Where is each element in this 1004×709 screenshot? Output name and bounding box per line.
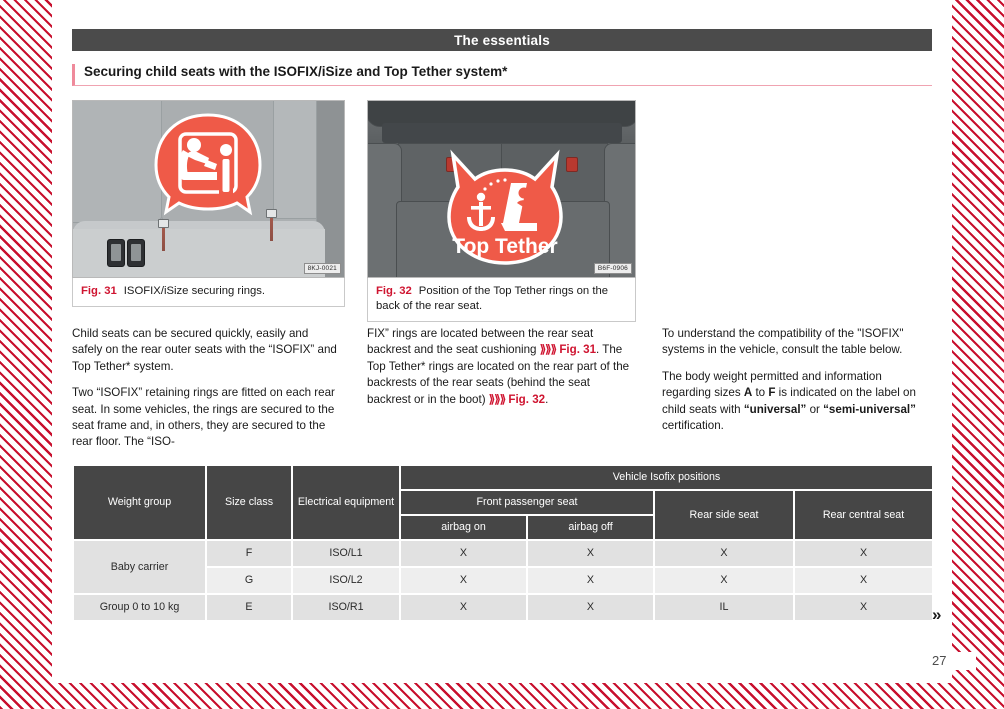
chevron-right-icon: ⟫⟫⟫ xyxy=(489,393,505,406)
page-sheet-footer xyxy=(52,650,952,683)
figure-32: Top Tether B6F-0906 Fig. 32Position of t… xyxy=(367,100,636,322)
cell-rear-central: X xyxy=(794,540,933,567)
cell-size-class: F xyxy=(206,540,292,567)
text-run: . xyxy=(545,393,548,406)
cell-airbag-on: X xyxy=(400,540,527,567)
cell-equipment: ISO/L2 xyxy=(292,567,400,594)
th-front-passenger-seat: Front passenger seat xyxy=(400,490,654,515)
cell-equipment: ISO/R1 xyxy=(292,594,400,621)
continuation-marker: » xyxy=(932,605,939,625)
th-weight-group: Weight group xyxy=(73,465,206,540)
text-run: to xyxy=(752,386,768,399)
size-a: A xyxy=(744,386,752,399)
figure-31: 8KJ-0021 Fig. 31ISOFIX/iSize securing ri… xyxy=(72,100,345,307)
page-number: 27 xyxy=(930,652,976,670)
figure-31-image: 8KJ-0021 xyxy=(72,100,345,278)
body-column-2: FIX” rings are located between the rear … xyxy=(367,326,635,408)
table-row: Baby carrier F ISO/L1 X X X X xyxy=(73,540,933,567)
cell-airbag-on: X xyxy=(400,594,527,621)
section-heading-container: Securing child seats with the ISOFIX/iSi… xyxy=(72,64,932,86)
cell-rear-side: X xyxy=(654,540,794,567)
paragraph: Two “ISOFIX” retaining rings are fitted … xyxy=(72,385,340,451)
body-column-1: Child seats can be secured quickly, easi… xyxy=(72,326,340,451)
th-electrical-equipment: Electrical equipment xyxy=(292,465,400,540)
figure-32-label: Fig. 32 xyxy=(376,285,412,297)
figure-31-caption-text: ISOFIX/iSize securing rings. xyxy=(124,285,265,297)
figure-32-code: B6F-0906 xyxy=(594,263,632,274)
figure-31-crossref[interactable]: Fig. 31 xyxy=(559,343,596,356)
cell-weight-group: Group 0 to 10 kg xyxy=(73,594,206,621)
paragraph: FIX” rings are located between the rear … xyxy=(367,326,635,408)
top-tether-badge-icon: Top Tether xyxy=(441,149,569,269)
cell-rear-central: X xyxy=(794,594,933,621)
isofix-compatibility-table: Weight group Size class Electrical equip… xyxy=(72,464,934,622)
chapter-title: The essentials xyxy=(454,33,550,48)
cell-size-class: G xyxy=(206,567,292,594)
th-rear-central-seat: Rear central seat xyxy=(794,490,933,540)
text-run: certification. xyxy=(662,419,724,432)
isofix-badge-icon xyxy=(147,112,269,224)
semi-universal-label: “semi-universal” xyxy=(823,403,916,416)
figure-32-caption: Fig. 32Position of the Top Tether rings … xyxy=(367,278,636,322)
th-airbag-off: airbag off xyxy=(527,515,654,540)
th-airbag-on: airbag on xyxy=(400,515,527,540)
th-size-class: Size class xyxy=(206,465,292,540)
figure-32-crossref[interactable]: Fig. 32 xyxy=(508,393,545,406)
cell-airbag-off: X xyxy=(527,540,654,567)
text-run: or xyxy=(806,403,823,416)
cell-rear-central: X xyxy=(794,567,933,594)
cell-airbag-off: X xyxy=(527,567,654,594)
boot-illustration: Top Tether xyxy=(368,101,635,277)
cell-airbag-off: X xyxy=(527,594,654,621)
figure-31-label: Fig. 31 xyxy=(81,285,117,297)
section-heading: Securing child seats with the ISOFIX/iSi… xyxy=(72,64,932,86)
paragraph: The body weight permitted and informatio… xyxy=(662,369,932,435)
universal-label: “universal” xyxy=(744,403,807,416)
th-vehicle-isofix-positions: Vehicle Isofix positions xyxy=(400,465,933,490)
figure-31-caption: Fig. 31ISOFIX/iSize securing rings. xyxy=(72,278,345,307)
cell-size-class: E xyxy=(206,594,292,621)
cell-rear-side: IL xyxy=(654,594,794,621)
table-header-row-1: Weight group Size class Electrical equip… xyxy=(73,465,933,490)
top-tether-badge-text: Top Tether xyxy=(452,235,557,258)
cell-rear-side: X xyxy=(654,567,794,594)
cell-equipment: ISO/L1 xyxy=(292,540,400,567)
cell-weight-group: Baby carrier xyxy=(73,540,206,594)
figure-31-code: 8KJ-0021 xyxy=(304,263,341,274)
th-rear-side-seat: Rear side seat xyxy=(654,490,794,540)
cell-airbag-on: X xyxy=(400,567,527,594)
body-column-3: To understand the compatibility of the "… xyxy=(662,326,932,434)
figure-32-image: Top Tether B6F-0906 xyxy=(367,100,636,278)
rear-seat-illustration xyxy=(73,101,344,277)
table-row: Group 0 to 10 kg E ISO/R1 X X IL X xyxy=(73,594,933,621)
chevron-right-icon: ⟫⟫⟫ xyxy=(540,343,556,356)
chapter-title-bar: The essentials xyxy=(72,29,932,51)
paragraph: To understand the compatibility of the "… xyxy=(662,326,932,359)
paragraph: Child seats can be secured quickly, easi… xyxy=(72,326,340,375)
